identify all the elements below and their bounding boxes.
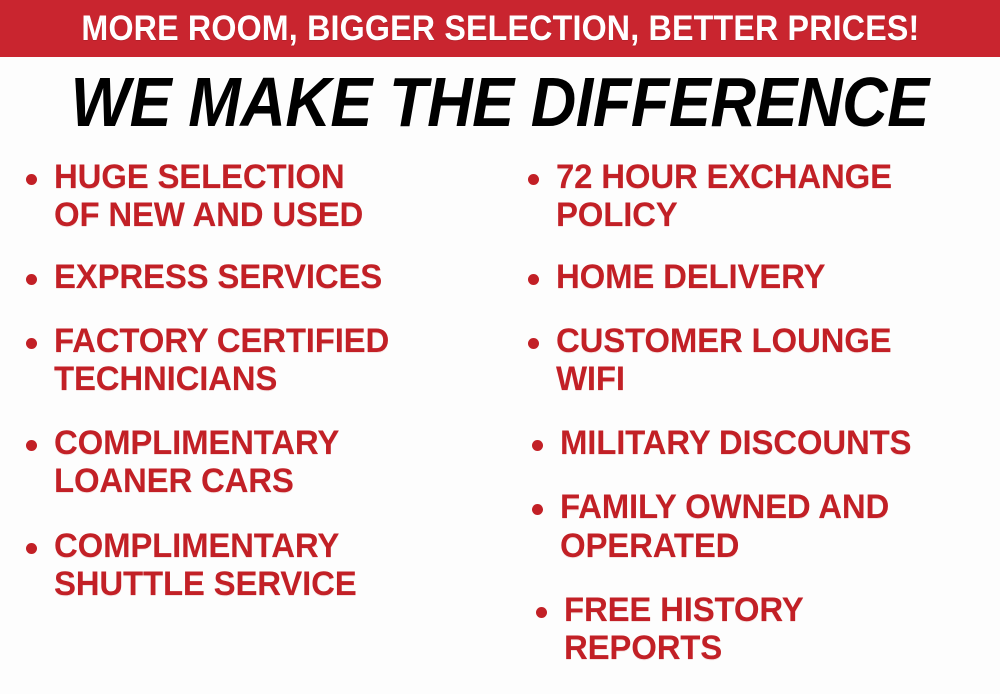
feature-item: COMPLIMENTARY LOANER CARS: [20, 424, 494, 500]
feature-label: HOME DELIVERY: [556, 258, 985, 296]
feature-item: FAMILY OWNED AND OPERATED: [522, 488, 998, 564]
bullet-dot-icon: [532, 504, 543, 515]
bullet-dot-icon: [26, 543, 37, 554]
feature-item: FACTORY CERTIFIED TECHNICIANS: [20, 322, 494, 398]
features-column-right: 72 HOUR EXCHANGE POLICY HOME DELIVERY CU…: [500, 158, 1000, 694]
feature-label: COMPLIMENTARY SHUTTLE SERVICE: [54, 527, 481, 603]
feature-label: EXPRESS SERVICES: [54, 258, 481, 296]
features-columns: HUGE SELECTION OF NEW AND USED EXPRESS S…: [0, 158, 1000, 694]
top-banner: MORE ROOM, BIGGER SELECTION, BETTER PRIC…: [0, 0, 1000, 57]
bullet-dot-icon: [528, 174, 539, 185]
feature-label: 72 HOUR EXCHANGE POLICY: [556, 158, 985, 234]
feature-label: HUGE SELECTION OF NEW AND USED: [54, 158, 481, 234]
feature-item: CUSTOMER LOUNGE WIFI: [522, 322, 998, 398]
feature-item: HUGE SELECTION OF NEW AND USED: [20, 158, 494, 234]
feature-item: EXPRESS SERVICES: [20, 258, 494, 296]
feature-label: MILITARY DISCOUNTS: [560, 424, 985, 462]
main-headline: WE MAKE THE DIFFERENCE: [71, 67, 929, 137]
feature-label: CUSTOMER LOUNGE WIFI: [556, 322, 985, 398]
bullet-dot-icon: [26, 274, 37, 285]
feature-item: FREE HISTORY REPORTS: [522, 591, 998, 667]
feature-label: FACTORY CERTIFIED TECHNICIANS: [54, 322, 481, 398]
headline-container: WE MAKE THE DIFFERENCE: [0, 62, 1000, 142]
feature-item: 72 HOUR EXCHANGE POLICY: [522, 158, 998, 234]
bullet-dot-icon: [26, 440, 37, 451]
feature-item: HOME DELIVERY: [522, 258, 998, 296]
bullet-dot-icon: [536, 607, 547, 618]
bullet-dot-icon: [26, 174, 37, 185]
feature-label: COMPLIMENTARY LOANER CARS: [54, 424, 481, 500]
feature-label: FREE HISTORY REPORTS: [564, 591, 985, 667]
feature-item: MILITARY DISCOUNTS: [522, 424, 998, 462]
bullet-dot-icon: [26, 338, 37, 349]
dealership-promo-poster: MORE ROOM, BIGGER SELECTION, BETTER PRIC…: [0, 0, 1000, 694]
feature-item: COMPLIMENTARY SHUTTLE SERVICE: [20, 527, 494, 603]
feature-label: FAMILY OWNED AND OPERATED: [560, 488, 985, 564]
bullet-dot-icon: [532, 440, 543, 451]
features-column-left: HUGE SELECTION OF NEW AND USED EXPRESS S…: [0, 158, 500, 694]
bullet-dot-icon: [528, 274, 539, 285]
bullet-dot-icon: [528, 338, 539, 349]
banner-headline-text: MORE ROOM, BIGGER SELECTION, BETTER PRIC…: [81, 11, 919, 46]
